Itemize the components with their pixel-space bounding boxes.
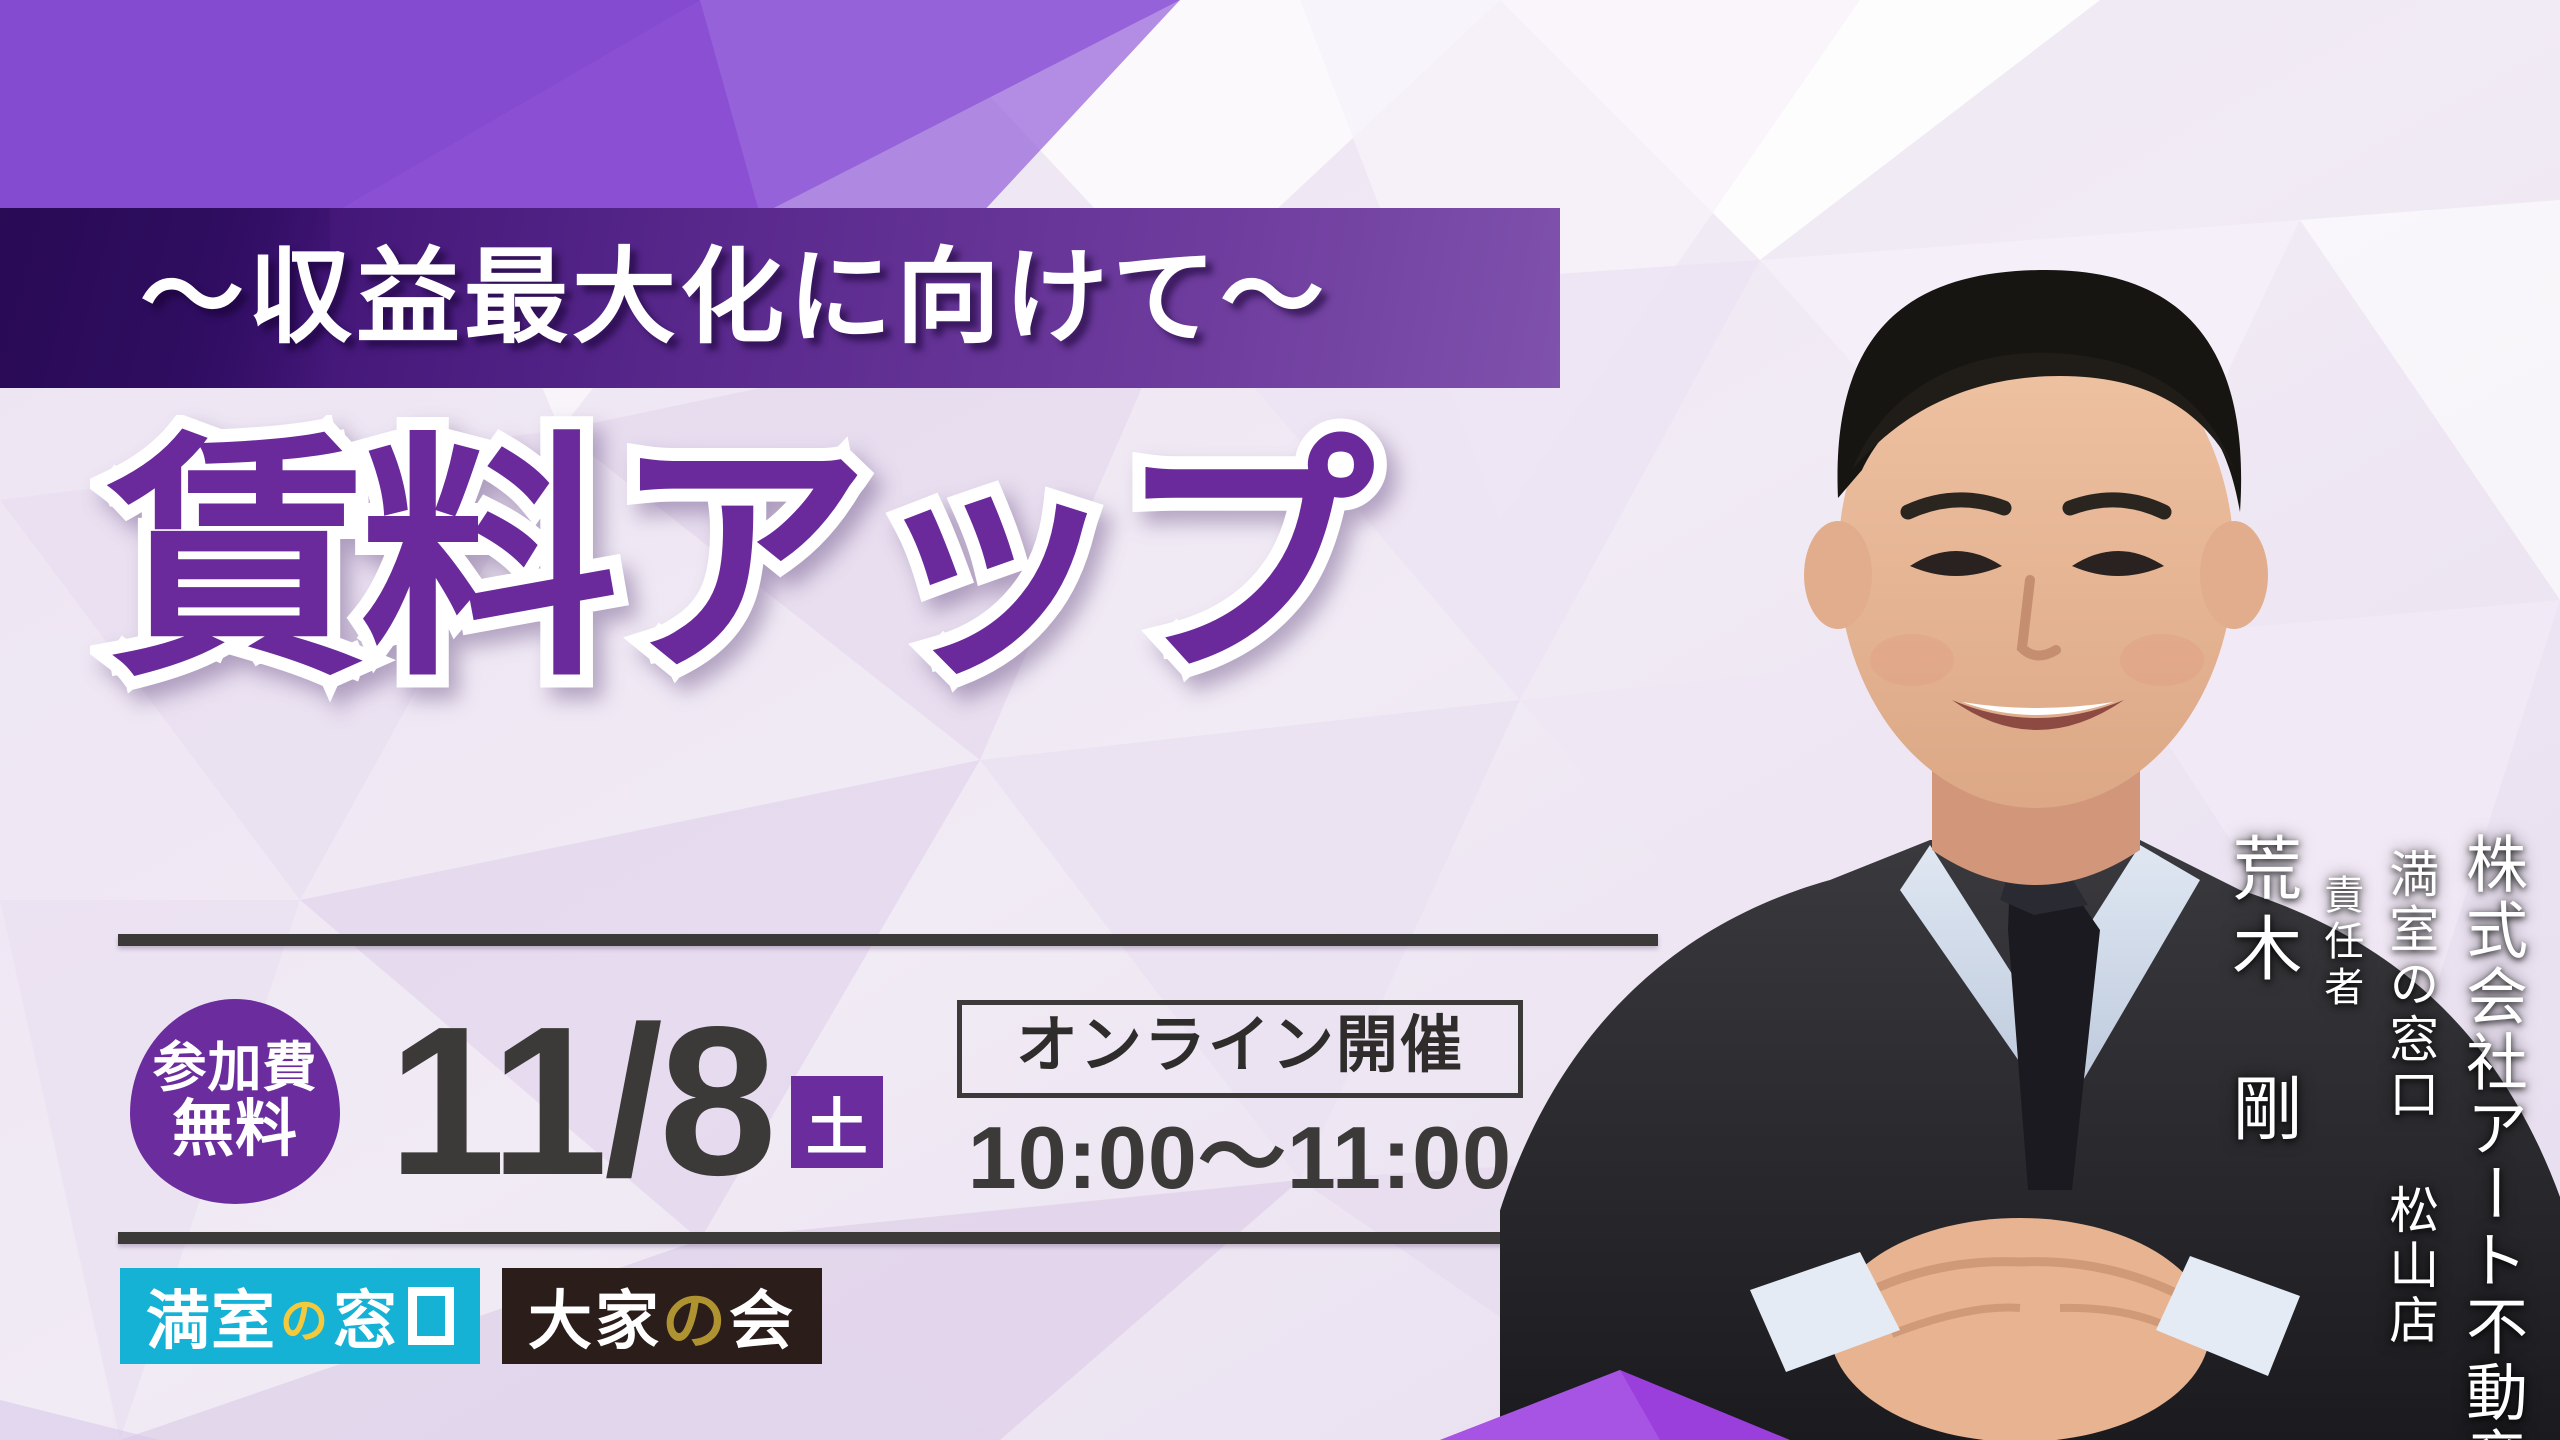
event-info-row: 参加費 無料 11/8 土 オンライン開催 10:00〜11:00 <box>118 986 1678 1216</box>
fee-badge-label: 参加費 <box>153 1040 318 1097</box>
corner-wedge-accent <box>0 0 1200 215</box>
seminar-banner: 〜収益最大化に向けて〜 賃料アップ 参加費 無料 11/8 土 オンライン開催 … <box>0 0 2560 1440</box>
event-day-of-week: 土 <box>791 1076 883 1168</box>
page-title: 賃料アップ <box>108 432 1368 690</box>
event-date: 11/8 土 <box>388 1010 883 1192</box>
event-venue: オンライン開催 10:00〜11:00 <box>957 1000 1523 1201</box>
divider-top <box>118 934 1658 946</box>
event-mode-badge: オンライン開催 <box>957 1000 1523 1097</box>
divider-bottom <box>118 1232 1658 1244</box>
event-time: 10:00〜11:00 <box>968 1114 1512 1202</box>
subtitle-text: 〜収益最大化に向けて〜 <box>140 246 1328 350</box>
fee-badge: 参加費 無料 <box>130 999 340 1204</box>
bottom-accent-shape <box>0 1280 2560 1440</box>
event-date-value: 11/8 <box>388 1010 773 1192</box>
subtitle-band: 〜収益最大化に向けて〜 <box>0 208 1560 388</box>
fee-badge-value: 無料 <box>172 1097 298 1162</box>
